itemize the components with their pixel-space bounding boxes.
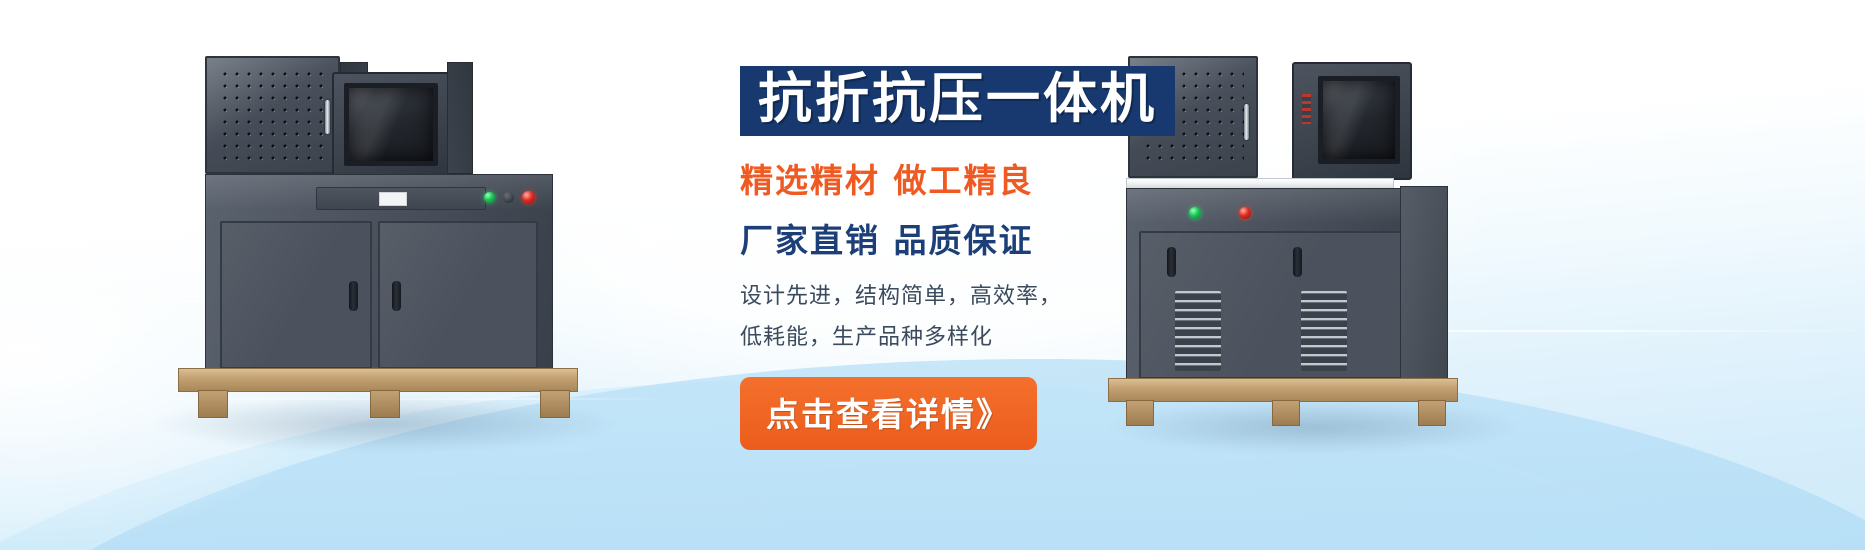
left-pallet-leg-a (198, 390, 228, 418)
left-top-door-a (205, 56, 340, 174)
left-monitor-screen (344, 83, 438, 166)
banner-description-line-2: 低耗能，生产品种多样化 (740, 319, 1300, 358)
view-details-button[interactable]: 点击查看详情》 (740, 377, 1037, 450)
banner-subtitle-secondary: 厂家直销 品质保证 (740, 214, 1300, 262)
left-pallet-top (178, 368, 578, 392)
left-cabinet-door-a (220, 221, 372, 369)
right-monitor-screen (1318, 76, 1400, 164)
left-pallet-leg-c (540, 390, 570, 418)
left-cabinet-door-b (378, 221, 538, 369)
left-monitor-housing (332, 72, 452, 180)
left-led-green (484, 192, 495, 203)
right-press-column (1400, 186, 1448, 386)
right-pallet-leg-c (1418, 400, 1446, 426)
banner-title: 抗折抗压一体机 (758, 72, 1157, 126)
left-top-door-a-perforation (219, 68, 326, 162)
banner-text-column: 抗折抗压一体机 精选精材 做工精良 厂家直销 品质保证 设计先进，结构简单，高效… (740, 66, 1300, 450)
left-led-dark (503, 192, 514, 203)
right-monitor-housing (1292, 62, 1412, 180)
product-image-right (0, 0, 130, 244)
left-top-side-panel-b (447, 62, 473, 174)
left-pallet-leg-b (370, 390, 400, 418)
left-cabinet-door-b-handle (392, 281, 401, 311)
promo-banner: 抗折抗压一体机 精选精材 做工精良 厂家直销 品质保证 设计先进，结构简单，高效… (0, 0, 1865, 550)
banner-title-bar: 抗折抗压一体机 (740, 66, 1175, 136)
right-monitor-side-buttons (1302, 94, 1311, 124)
banner-description-line-1: 设计先进，结构简单，高效率， (740, 278, 1300, 317)
left-cabinet-door-a-handle (349, 281, 358, 311)
left-led-red (522, 191, 535, 204)
left-lower-cabinet (205, 174, 553, 374)
banner-subtitle-primary: 精选精材 做工精良 (740, 154, 1300, 202)
left-top-door-a-handle (325, 100, 330, 134)
left-control-strip (316, 187, 486, 210)
left-control-label (379, 192, 407, 206)
right-cabinet-vent-b (1301, 291, 1347, 371)
